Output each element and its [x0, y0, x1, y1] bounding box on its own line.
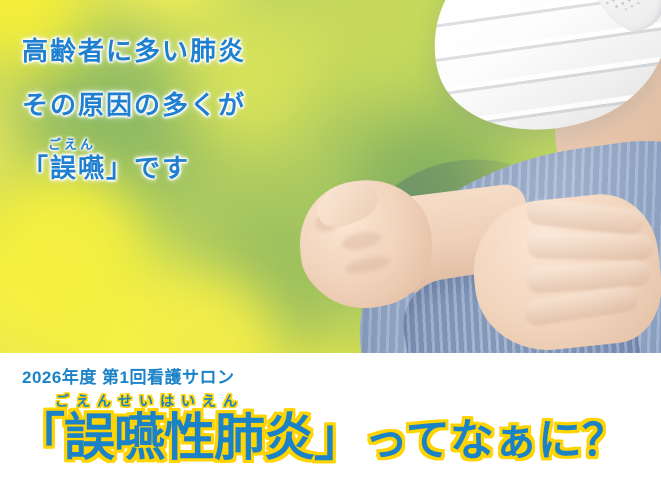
- title-band: 2026年度 第1回看護サロン ごえんせいはいえん 「誤嚥性肺炎」ってなぁに？: [0, 353, 661, 479]
- knuckle-shadow: [343, 254, 391, 277]
- main-title-quoted: 「誤嚥性肺炎」: [14, 409, 364, 466]
- lead-line-1: 高齢者に多い肺炎: [22, 38, 246, 64]
- finger: [527, 232, 653, 260]
- poster-root: 高齢者に多い肺炎 その原因の多くが ごえん 「誤嚥」です 2026年度 第1回看…: [0, 0, 661, 479]
- knuckle-shadow: [340, 229, 382, 253]
- title-ruby-goenseihaien: ごえんせいはいえん: [55, 391, 244, 411]
- hero-photo: 高齢者に多い肺炎 その原因の多くが ごえん 「誤嚥」です: [0, 0, 661, 353]
- lead-line-2: その原因の多くが: [22, 92, 246, 118]
- main-title: 「誤嚥性肺炎」ってなぁに？: [14, 409, 626, 468]
- lead-line-3: 「誤嚥」です: [22, 148, 190, 185]
- main-title-tail: ってなぁに？: [364, 416, 626, 465]
- finger: [525, 198, 645, 236]
- event-subtitle: 2026年度 第1回看護サロン: [22, 363, 235, 388]
